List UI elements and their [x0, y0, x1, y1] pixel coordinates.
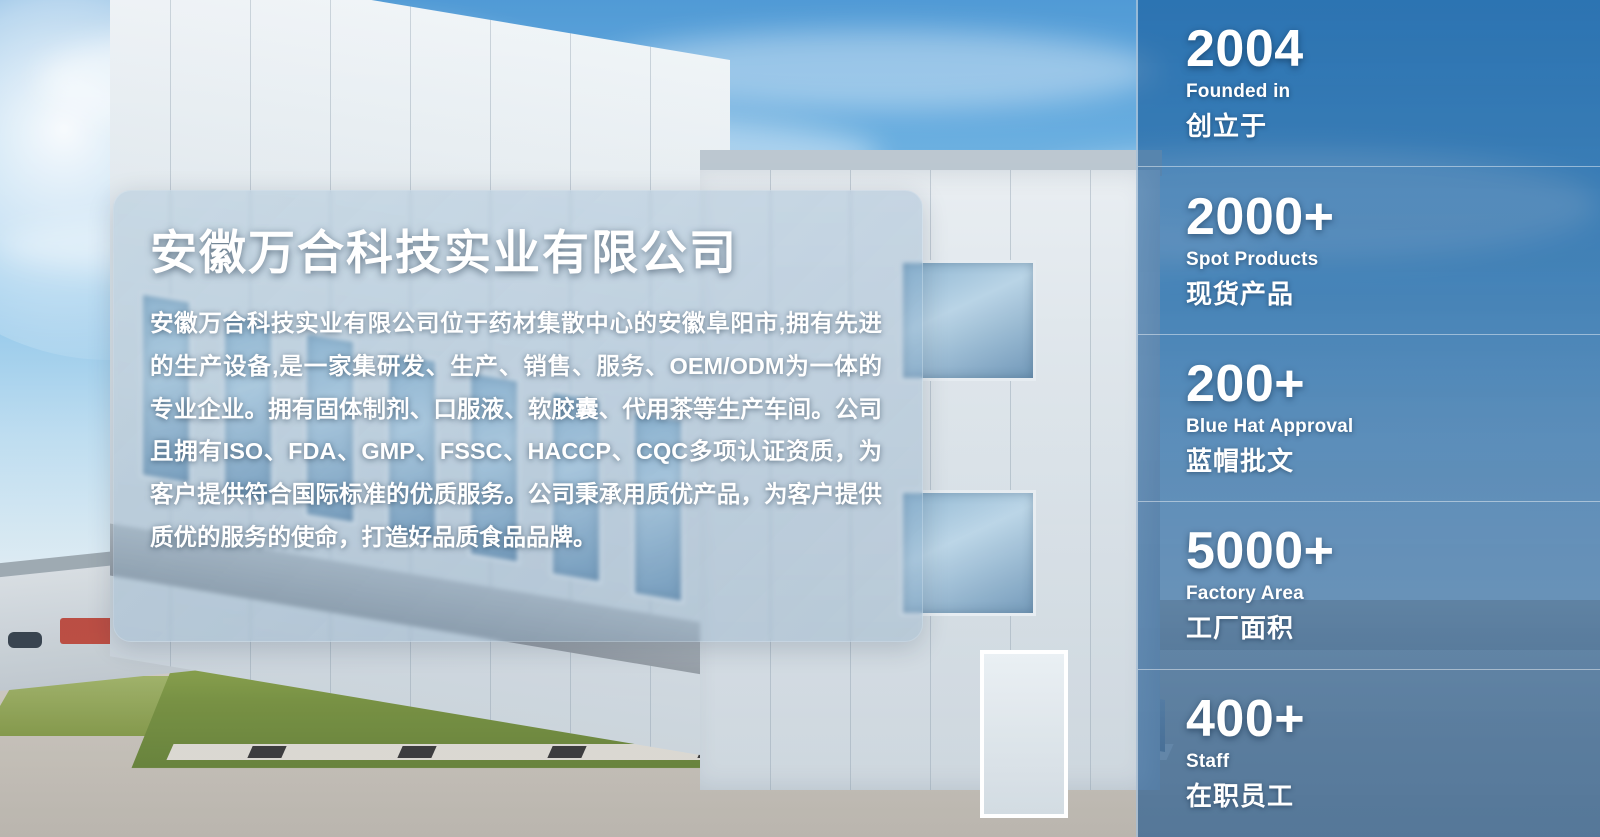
stat-number: 2000+: [1186, 191, 1600, 243]
stat-number: 5000+: [1186, 525, 1600, 577]
stats-panel: 2004 Founded in 创立于 2000+ Spot Products …: [1136, 0, 1600, 837]
stat-label-cn: 现货产品: [1186, 274, 1600, 311]
stat-label-en: Founded in: [1186, 81, 1600, 103]
stat-item-founded: 2004 Founded in 创立于: [1138, 0, 1600, 167]
stat-item-factory-area: 5000+ Factory Area 工厂面积: [1138, 502, 1600, 669]
stat-item-blue-hat-approval: 200+ Blue Hat Approval 蓝帽批文: [1138, 335, 1600, 502]
stat-number: 2004: [1186, 23, 1600, 75]
company-description: 安徽万合科技实业有限公司位于药材集散中心的安徽阜阳市,拥有先进的生产设备,是一家…: [114, 276, 922, 559]
stat-label-en: Staff: [1186, 751, 1600, 773]
stat-label-cn: 蓝帽批文: [1186, 441, 1600, 478]
stat-label-cn: 创立于: [1186, 106, 1600, 143]
company-info-card: 安徽万合科技实业有限公司 安徽万合科技实业有限公司位于药材集散中心的安徽阜阳市,…: [113, 190, 923, 642]
stat-number: 400+: [1186, 693, 1600, 745]
stat-label-en: Blue Hat Approval: [1186, 416, 1600, 438]
stat-number: 200+: [1186, 358, 1600, 410]
stat-label-cn: 在职员工: [1186, 776, 1600, 813]
stat-label-en: Spot Products: [1186, 249, 1600, 271]
stat-item-staff: 400+ Staff 在职员工: [1138, 670, 1600, 837]
stat-label-en: Factory Area: [1186, 583, 1600, 605]
hero-banner: 安徽万合科技实业有限公司 安徽万合科技实业有限公司位于药材集散中心的安徽阜阳市,…: [0, 0, 1600, 837]
stat-label-cn: 工厂面积: [1186, 608, 1600, 645]
stat-item-spot-products: 2000+ Spot Products 现货产品: [1138, 167, 1600, 334]
company-title: 安徽万合科技实业有限公司: [114, 191, 922, 276]
